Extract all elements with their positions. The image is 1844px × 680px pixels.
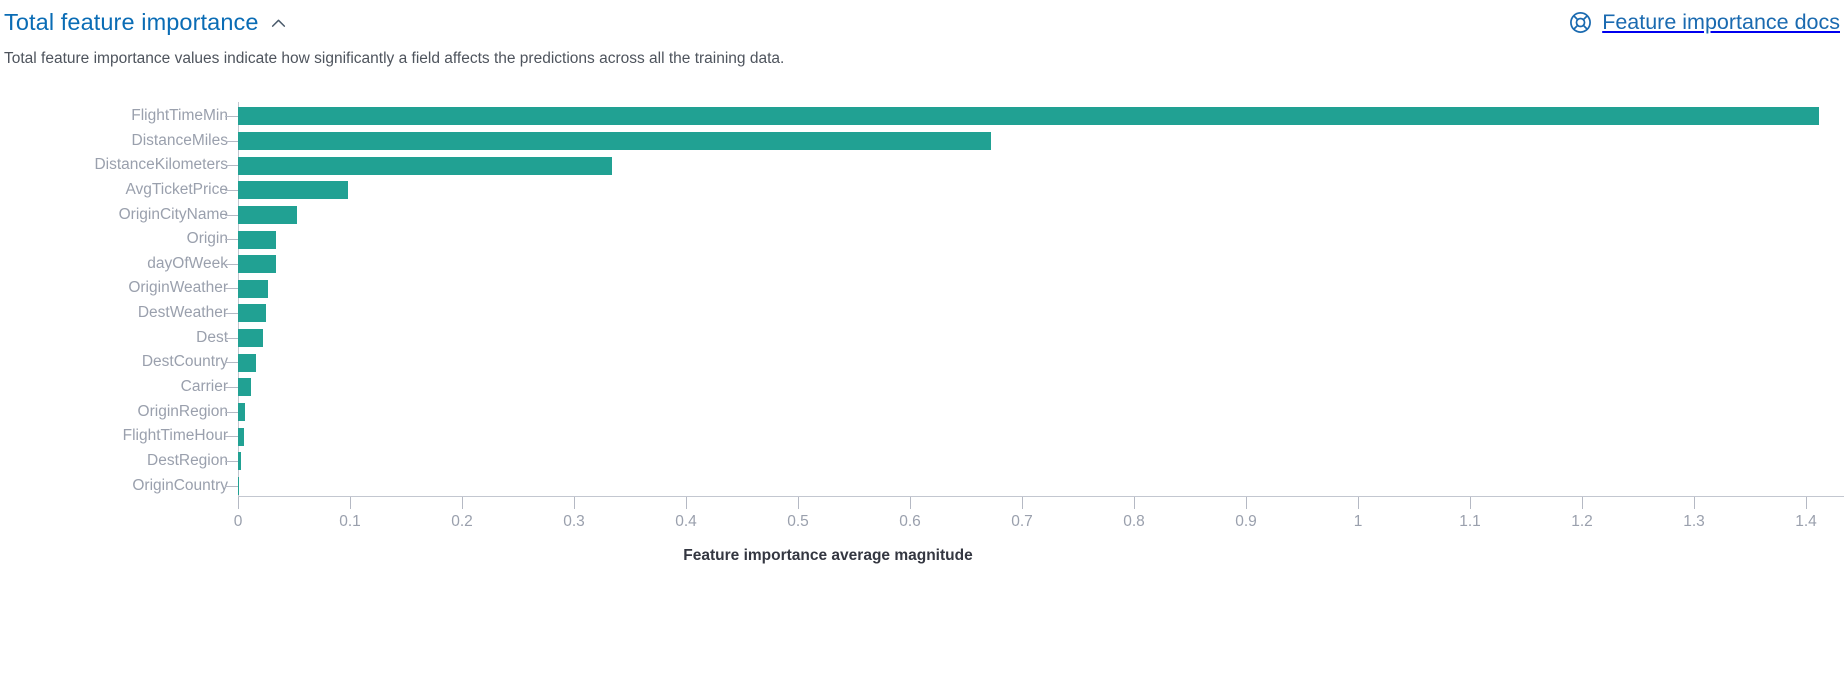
x-axis-tick-label: 1.2 — [1571, 513, 1593, 531]
chevron-up-icon[interactable] — [270, 15, 287, 32]
bar[interactable] — [238, 304, 266, 322]
bar-row[interactable] — [238, 326, 1819, 351]
x-axis-tick-label: 0 — [234, 513, 243, 531]
bar-row[interactable] — [238, 276, 1819, 301]
bar[interactable] — [238, 255, 276, 273]
y-axis-tick — [0, 424, 238, 449]
x-axis-tick-mark — [1582, 497, 1583, 509]
y-axis-tick — [0, 449, 238, 474]
y-axis-tick — [0, 326, 238, 351]
y-axis-tick-marks — [0, 104, 238, 498]
x-axis-tick-mark — [462, 497, 463, 509]
x-axis-tick-mark — [1470, 497, 1471, 509]
bar[interactable] — [238, 280, 268, 298]
bar[interactable] — [238, 329, 263, 347]
bar-row[interactable] — [238, 424, 1819, 449]
bar-row[interactable] — [238, 474, 1819, 499]
x-axis-tick-label: 0.9 — [1235, 513, 1257, 531]
bar[interactable] — [238, 231, 276, 249]
x-axis-tick-label: 0.6 — [899, 513, 921, 531]
bar[interactable] — [238, 354, 256, 372]
plot-area: FlightTimeMinDistanceMilesDistanceKilome… — [0, 92, 1844, 680]
x-axis-tick-mark — [1246, 497, 1247, 509]
x-axis-tick-label: 1.3 — [1683, 513, 1705, 531]
y-axis-tick — [0, 474, 238, 499]
x-axis-tick-label: 0.4 — [675, 513, 697, 531]
bar-row[interactable] — [238, 400, 1819, 425]
x-axis-tick-label: 1 — [1354, 513, 1363, 531]
bar-row[interactable] — [238, 449, 1819, 474]
y-axis-tick — [0, 375, 238, 400]
y-axis-tick — [0, 350, 238, 375]
panel-description: Total feature importance values indicate… — [4, 48, 784, 70]
bar[interactable] — [238, 452, 241, 470]
lifebuoy-icon — [1569, 11, 1592, 34]
x-axis-tick-mark — [1134, 497, 1135, 509]
y-axis-tick — [0, 400, 238, 425]
bar-row[interactable] — [238, 350, 1819, 375]
bar-row[interactable] — [238, 301, 1819, 326]
y-axis-tick — [0, 276, 238, 301]
y-axis-tick — [0, 153, 238, 178]
bar[interactable] — [238, 206, 297, 224]
bar[interactable] — [238, 181, 348, 199]
x-axis-tick-label: 1.1 — [1459, 513, 1481, 531]
bar[interactable] — [238, 107, 1819, 125]
bar-row[interactable] — [238, 153, 1819, 178]
x-axis-tick-mark — [238, 497, 239, 509]
bar[interactable] — [238, 428, 244, 446]
y-axis-tick — [0, 301, 238, 326]
bar-series — [238, 104, 1819, 498]
bar[interactable] — [238, 403, 245, 421]
x-axis-tick-mark — [686, 497, 687, 509]
total-feature-importance-toggle[interactable]: Total feature importance — [0, 8, 287, 36]
y-axis-tick — [0, 227, 238, 252]
x-axis-tick-label: 0.1 — [339, 513, 361, 531]
x-axis-tick-mark — [1806, 497, 1807, 509]
feature-importance-docs-link[interactable]: Feature importance docs — [1569, 9, 1844, 35]
bar-row[interactable] — [238, 203, 1819, 228]
x-axis-title: Feature importance average magnitude — [238, 547, 1418, 565]
y-axis-tick — [0, 129, 238, 154]
bar[interactable] — [238, 477, 239, 495]
panel-header: Total feature importance Feature importa… — [0, 0, 1844, 44]
page-title: Total feature importance — [4, 8, 259, 36]
feature-importance-chart: FlightTimeMinDistanceMilesDistanceKilome… — [0, 92, 1844, 680]
bar[interactable] — [238, 132, 991, 150]
x-axis-tick-mark — [574, 497, 575, 509]
bar-row[interactable] — [238, 252, 1819, 277]
y-axis-tick — [0, 104, 238, 129]
x-axis-tick-mark — [910, 497, 911, 509]
bar-row[interactable] — [238, 227, 1819, 252]
bar-row[interactable] — [238, 178, 1819, 203]
bar[interactable] — [238, 157, 612, 175]
bar-row[interactable] — [238, 129, 1819, 154]
bar[interactable] — [238, 378, 251, 396]
x-axis-tick-mark — [1358, 497, 1359, 509]
docs-link-label: Feature importance docs — [1602, 9, 1840, 35]
x-axis-tick-label: 0.5 — [787, 513, 809, 531]
x-axis-tick-label: 0.2 — [451, 513, 473, 531]
x-axis-tick-mark — [350, 497, 351, 509]
x-axis-tick-mark — [1694, 497, 1695, 509]
x-axis-tick-mark — [1022, 497, 1023, 509]
y-axis-tick — [0, 203, 238, 228]
bar-row[interactable] — [238, 104, 1819, 129]
x-axis-tick-mark — [798, 497, 799, 509]
x-axis-tick-label: 0.3 — [563, 513, 585, 531]
x-axis-tick-label: 0.7 — [1011, 513, 1033, 531]
y-axis-tick — [0, 252, 238, 277]
bar-row[interactable] — [238, 375, 1819, 400]
y-axis-tick — [0, 178, 238, 203]
x-axis-tick-label: 0.8 — [1123, 513, 1145, 531]
x-axis-tick-label: 1.4 — [1795, 513, 1817, 531]
